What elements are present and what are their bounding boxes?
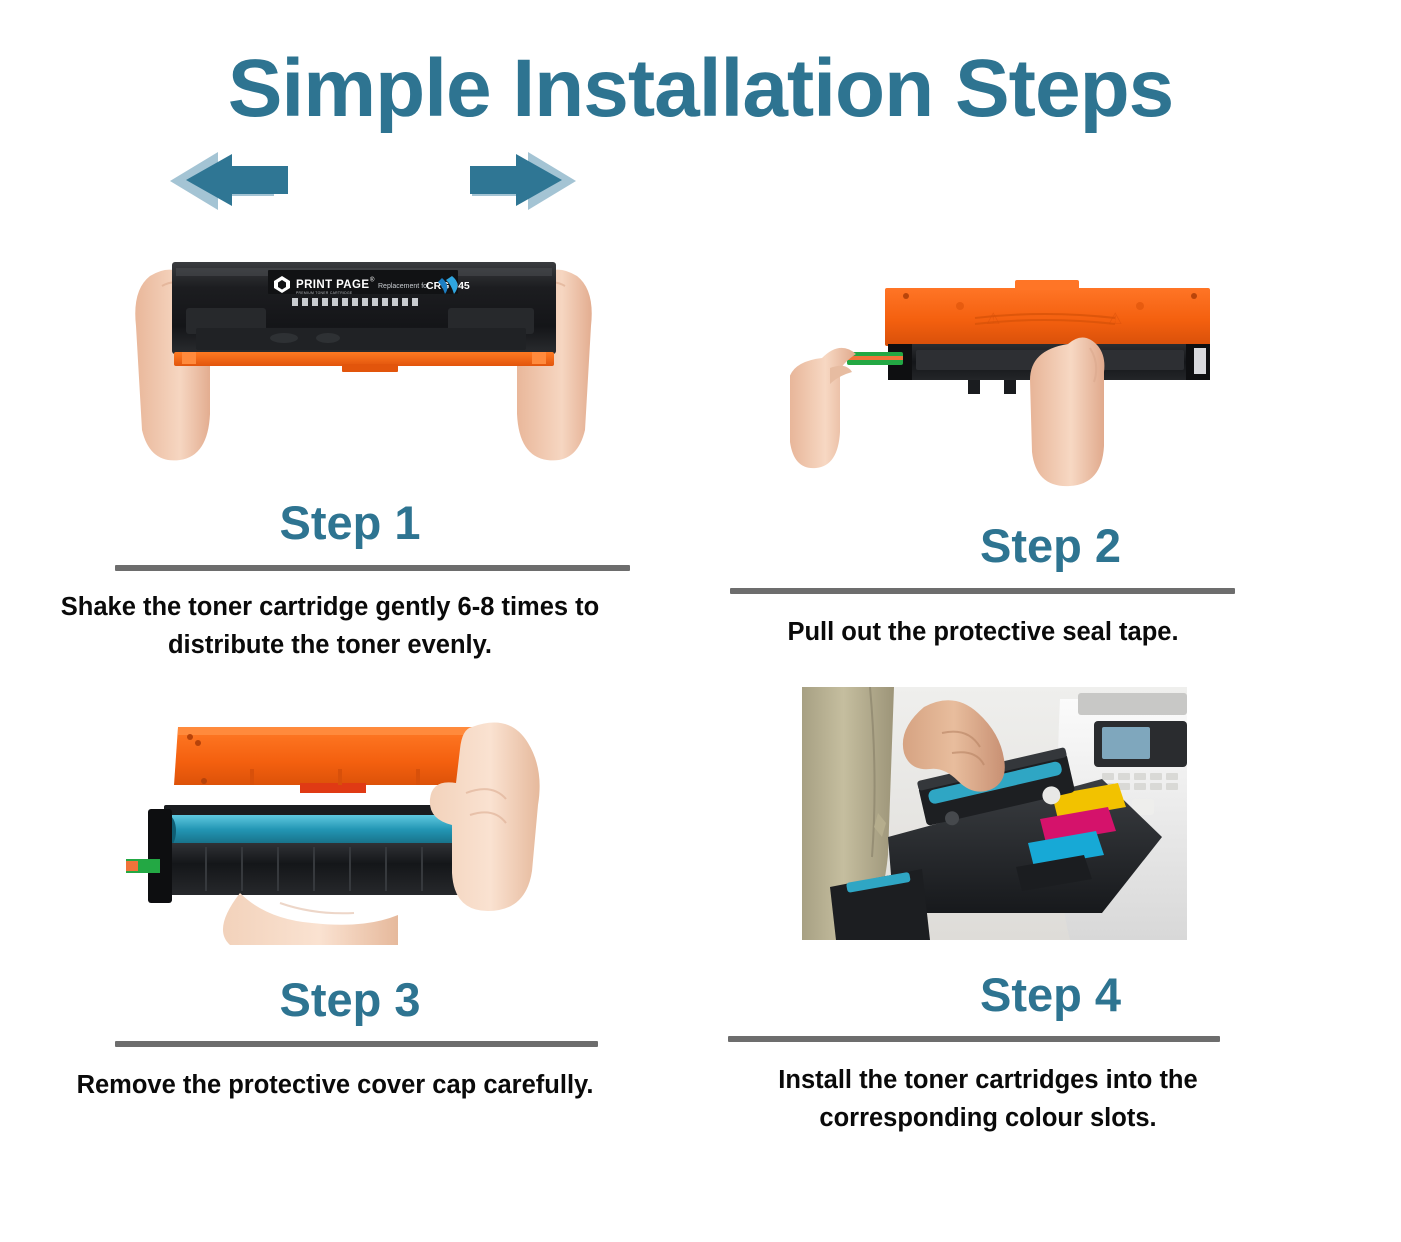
step-4-description: Install the toner cartridges into the co…	[708, 1062, 1268, 1137]
step-4-label: Step 4	[700, 970, 1401, 1019]
step-4-photo	[802, 687, 1187, 940]
steps-grid: PRINT PAGE ® PREMIUM TONER CARTRIDGE Rep…	[0, 130, 1401, 1138]
step-card-4: Step 4 Install the toner cartridges into…	[700, 687, 1401, 1138]
step-1-text: Step 1 Shake the toner cartridge gently …	[0, 464, 700, 665]
svg-text:Replacement for: Replacement for	[378, 283, 430, 290]
step-1-photo: PRINT PAGE ® PREMIUM TONER CARTRIDGE Rep…	[96, 216, 631, 464]
step-2-photo: ⚠ ⚠	[790, 232, 1255, 487]
arrow-right-icon	[470, 152, 590, 215]
step-4-divider	[728, 1036, 1220, 1042]
step-1-description: Shake the toner cartridge gently 6-8 tim…	[20, 589, 640, 664]
step-2-text: Step 2 Pull out the protective seal tape…	[700, 487, 1401, 652]
step-card-1: PRINT PAGE ® PREMIUM TONER CARTRIDGE Rep…	[0, 130, 700, 665]
svg-text:⚠: ⚠	[1108, 311, 1122, 328]
step-2-description: Pull out the protective seal tape.	[703, 614, 1263, 652]
step-3-text: Step 3 Remove the protective cover cap c…	[0, 945, 700, 1105]
svg-text:PREMIUM TONER CARTRIDGE: PREMIUM TONER CARTRIDGE	[296, 291, 353, 295]
step-2-label: Step 2	[700, 521, 1401, 570]
svg-text:®: ®	[370, 277, 375, 284]
svg-text:PRINT PAGE: PRINT PAGE	[296, 279, 369, 291]
step-3-label: Step 3	[0, 975, 700, 1024]
step-card-2: ⚠ ⚠	[700, 130, 1401, 665]
arrow-left-icon	[170, 152, 290, 215]
step-3-photo	[120, 687, 640, 945]
svg-text:⚠: ⚠	[986, 311, 1000, 328]
step-3-divider	[115, 1041, 598, 1047]
step-2-divider	[730, 588, 1235, 594]
step-1-label: Step 1	[0, 498, 700, 547]
shake-arrows-group	[0, 144, 700, 216]
page-title: Simple Installation Steps	[0, 0, 1401, 130]
step-2-spacer	[700, 144, 1401, 216]
step-card-3: Step 3 Remove the protective cover cap c…	[0, 687, 700, 1138]
step-1-divider	[115, 565, 630, 571]
step-3-description: Remove the protective cover cap carefull…	[0, 1067, 685, 1105]
step-4-text: Step 4 Install the toner cartridges into…	[700, 940, 1401, 1138]
